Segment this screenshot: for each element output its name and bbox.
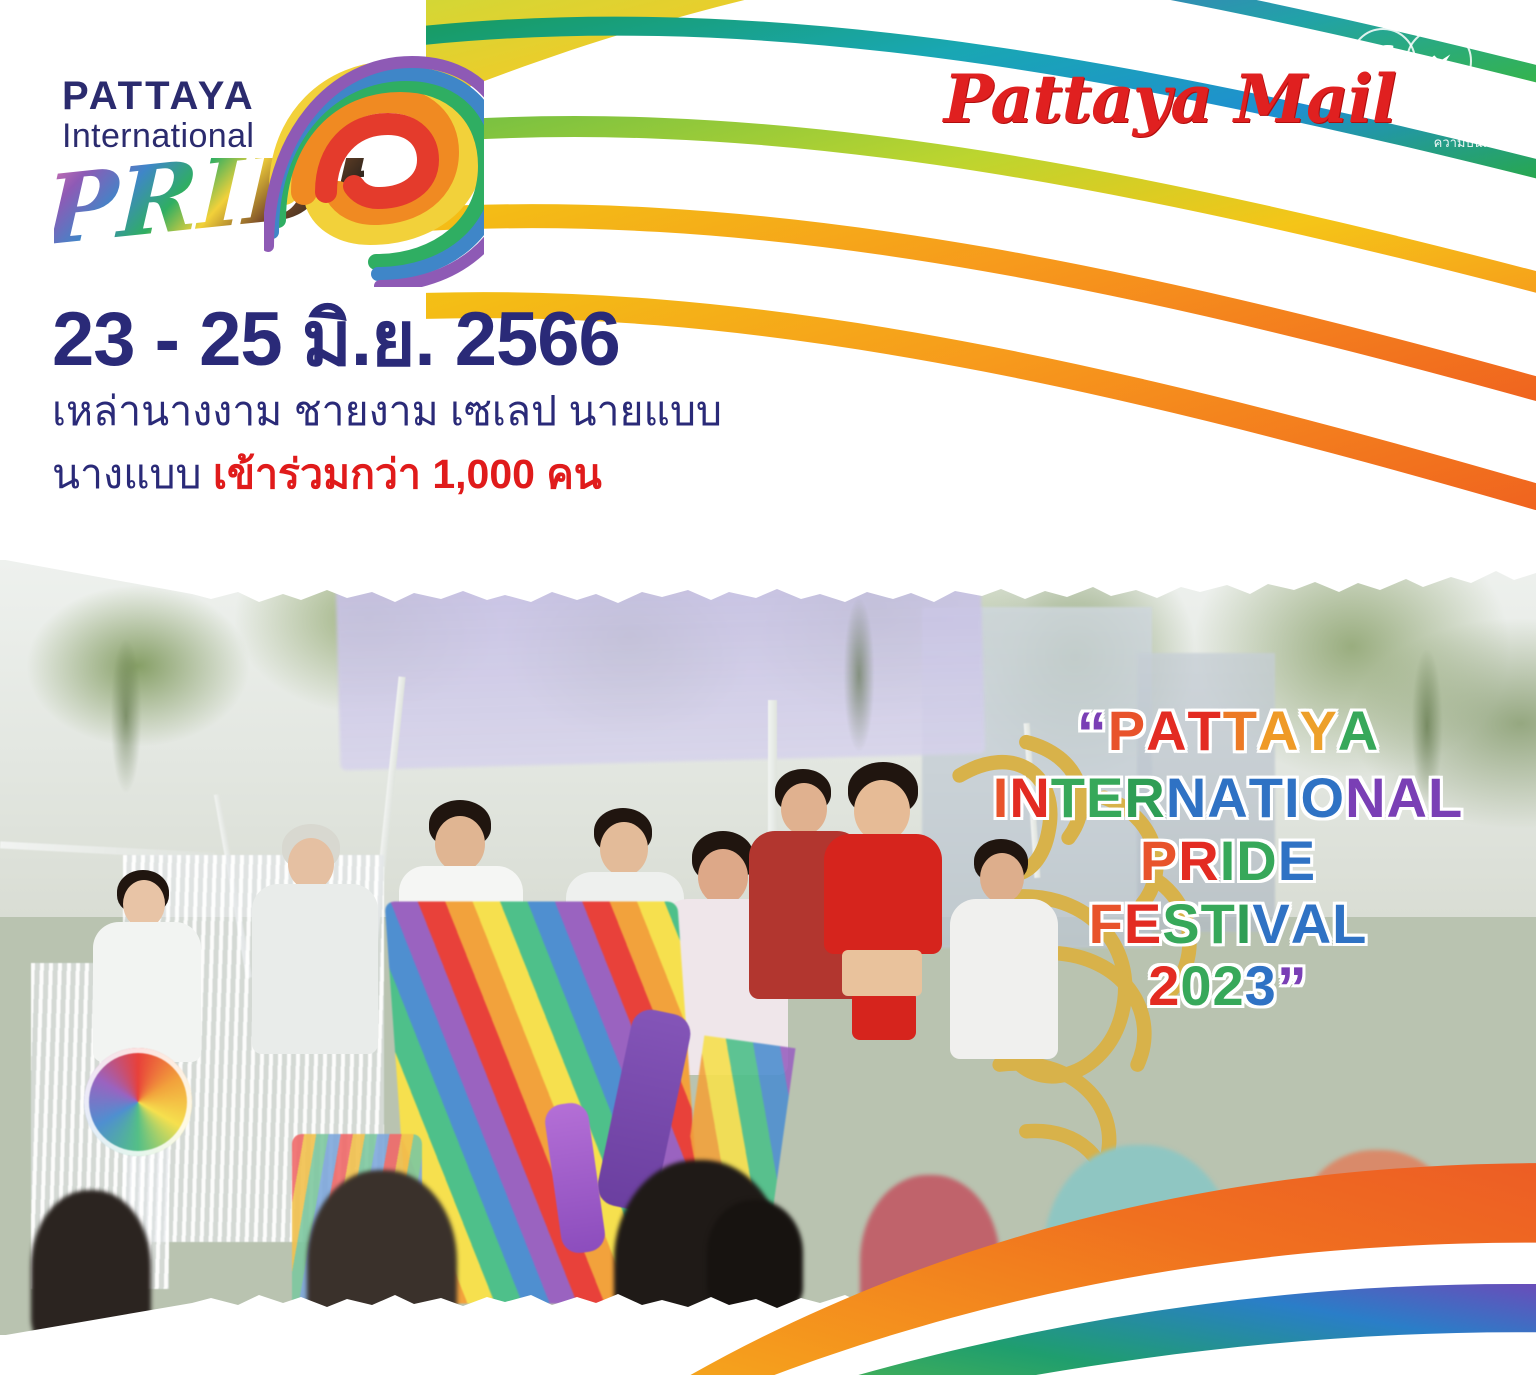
festival-title-letter: A — [1207, 767, 1248, 830]
close-quote-mark: ” — [1277, 955, 1308, 1022]
pride-festival-poster: PATTAYA International PRIDE — [0, 0, 1536, 1375]
festival-title-letter: 2 — [1148, 955, 1180, 1018]
festival-title-letter: A — [1387, 767, 1428, 830]
event-date: 23 - 25 มิ.ย. 2566 — [52, 300, 952, 380]
festival-title-row: “PATTAYA — [968, 700, 1488, 767]
festival-title-overlay: “PATTAYAINTERNATIONALPRIDEFESTIVAL2023” — [968, 700, 1488, 1023]
festival-title-letter: R — [1178, 830, 1219, 893]
headline-line-2: เหล่านางงาม ชายงาม เซเลป นายแบบ — [52, 380, 952, 444]
festival-title-letter: E — [1086, 767, 1124, 830]
photo-crowd-head — [707, 1200, 803, 1310]
festival-title-letter: A — [1338, 700, 1379, 763]
messenger-icon[interactable] — [1406, 28, 1472, 94]
festival-title-letter: R — [1124, 767, 1165, 830]
festival-title-letter: 0 — [1180, 955, 1212, 1018]
festival-title-letter: T — [1188, 700, 1223, 763]
photo-crowd-head — [1290, 1150, 1465, 1335]
festival-title-letter: T — [1223, 700, 1258, 763]
festival-title-letter: S — [1162, 893, 1200, 956]
photo-palm — [61, 591, 191, 841]
publisher-thai-name: ทยา — [1448, 100, 1502, 130]
photo-crowd-head — [1044, 1145, 1234, 1335]
festival-title-letter: V — [1252, 893, 1290, 956]
pattaya-pride-logo: PATTAYA International PRIDE — [48, 58, 478, 283]
logo-wordmark: PATTAYA International — [62, 76, 256, 153]
festival-title-letter: N — [1009, 767, 1050, 830]
festival-title-letter: A — [1258, 700, 1299, 763]
festival-title-letter: L — [1332, 893, 1367, 956]
headline-block: 23 - 25 มิ.ย. 2566 เหล่านางงาม ชายงาม เซ… — [52, 300, 952, 507]
festival-title-letter: E — [1278, 830, 1316, 893]
headline-attendance-highlight: เข้าร่วมกว่า 1,000 คน — [213, 451, 602, 497]
photo-crowd-head — [307, 1170, 457, 1335]
open-quote-mark: “ — [1077, 700, 1108, 767]
festival-title-letter: I — [993, 767, 1010, 830]
festival-title-letter: F — [1089, 893, 1124, 956]
logo-line-international: International — [62, 119, 256, 153]
festival-title-letter: P — [1140, 830, 1178, 893]
festival-title-letter: I — [1236, 893, 1253, 956]
festival-title-letter: A — [1146, 700, 1187, 763]
logo-line-pattaya: PATTAYA — [62, 76, 256, 116]
festival-title-letter: I — [1284, 767, 1301, 830]
headline-line-3: นางแบบ เข้าร่วมกว่า 1,000 คน — [52, 443, 952, 507]
festival-title-letter: T — [1051, 767, 1086, 830]
festival-title-letter: A — [1291, 893, 1332, 956]
festival-title-row: PRIDE — [968, 830, 1488, 893]
festival-title-letter: D — [1236, 830, 1277, 893]
photo-crowd-head — [860, 1175, 1000, 1335]
festival-title-letter: 3 — [1245, 955, 1277, 1018]
publisher-thai-tagline: ความบันเทิง — [1434, 132, 1502, 153]
festival-title-letter: P — [1108, 700, 1146, 763]
festival-title-letter: L — [1428, 767, 1463, 830]
festival-title-letter: N — [1166, 767, 1207, 830]
publisher-name: Pattaya Mail — [944, 60, 1396, 138]
rainbow-swirl-icon — [264, 52, 484, 287]
photo-crowd-head — [31, 1190, 151, 1335]
headline-line-3-prefix: นางแบบ — [52, 451, 213, 497]
festival-title-letter: T — [1249, 767, 1284, 830]
festival-title-letter: 2 — [1213, 955, 1245, 1018]
festival-title-letter: Y — [1299, 700, 1337, 763]
pattaya-mail-logo[interactable]: f Pattaya Mail ทยา ความบันเทิง — [994, 52, 1514, 182]
festival-title-row: INTERNATIONAL — [968, 767, 1488, 830]
festival-title-letter: I — [1220, 830, 1237, 893]
festival-title-letter: T — [1201, 893, 1236, 956]
festival-title-letter: O — [1301, 767, 1346, 830]
festival-title-row: 2023” — [968, 955, 1488, 1022]
festival-title-letter: N — [1345, 767, 1386, 830]
photo-crowd — [0, 1087, 1536, 1335]
festival-title-letter: E — [1124, 893, 1162, 956]
festival-title-row: FESTIVAL — [968, 893, 1488, 956]
